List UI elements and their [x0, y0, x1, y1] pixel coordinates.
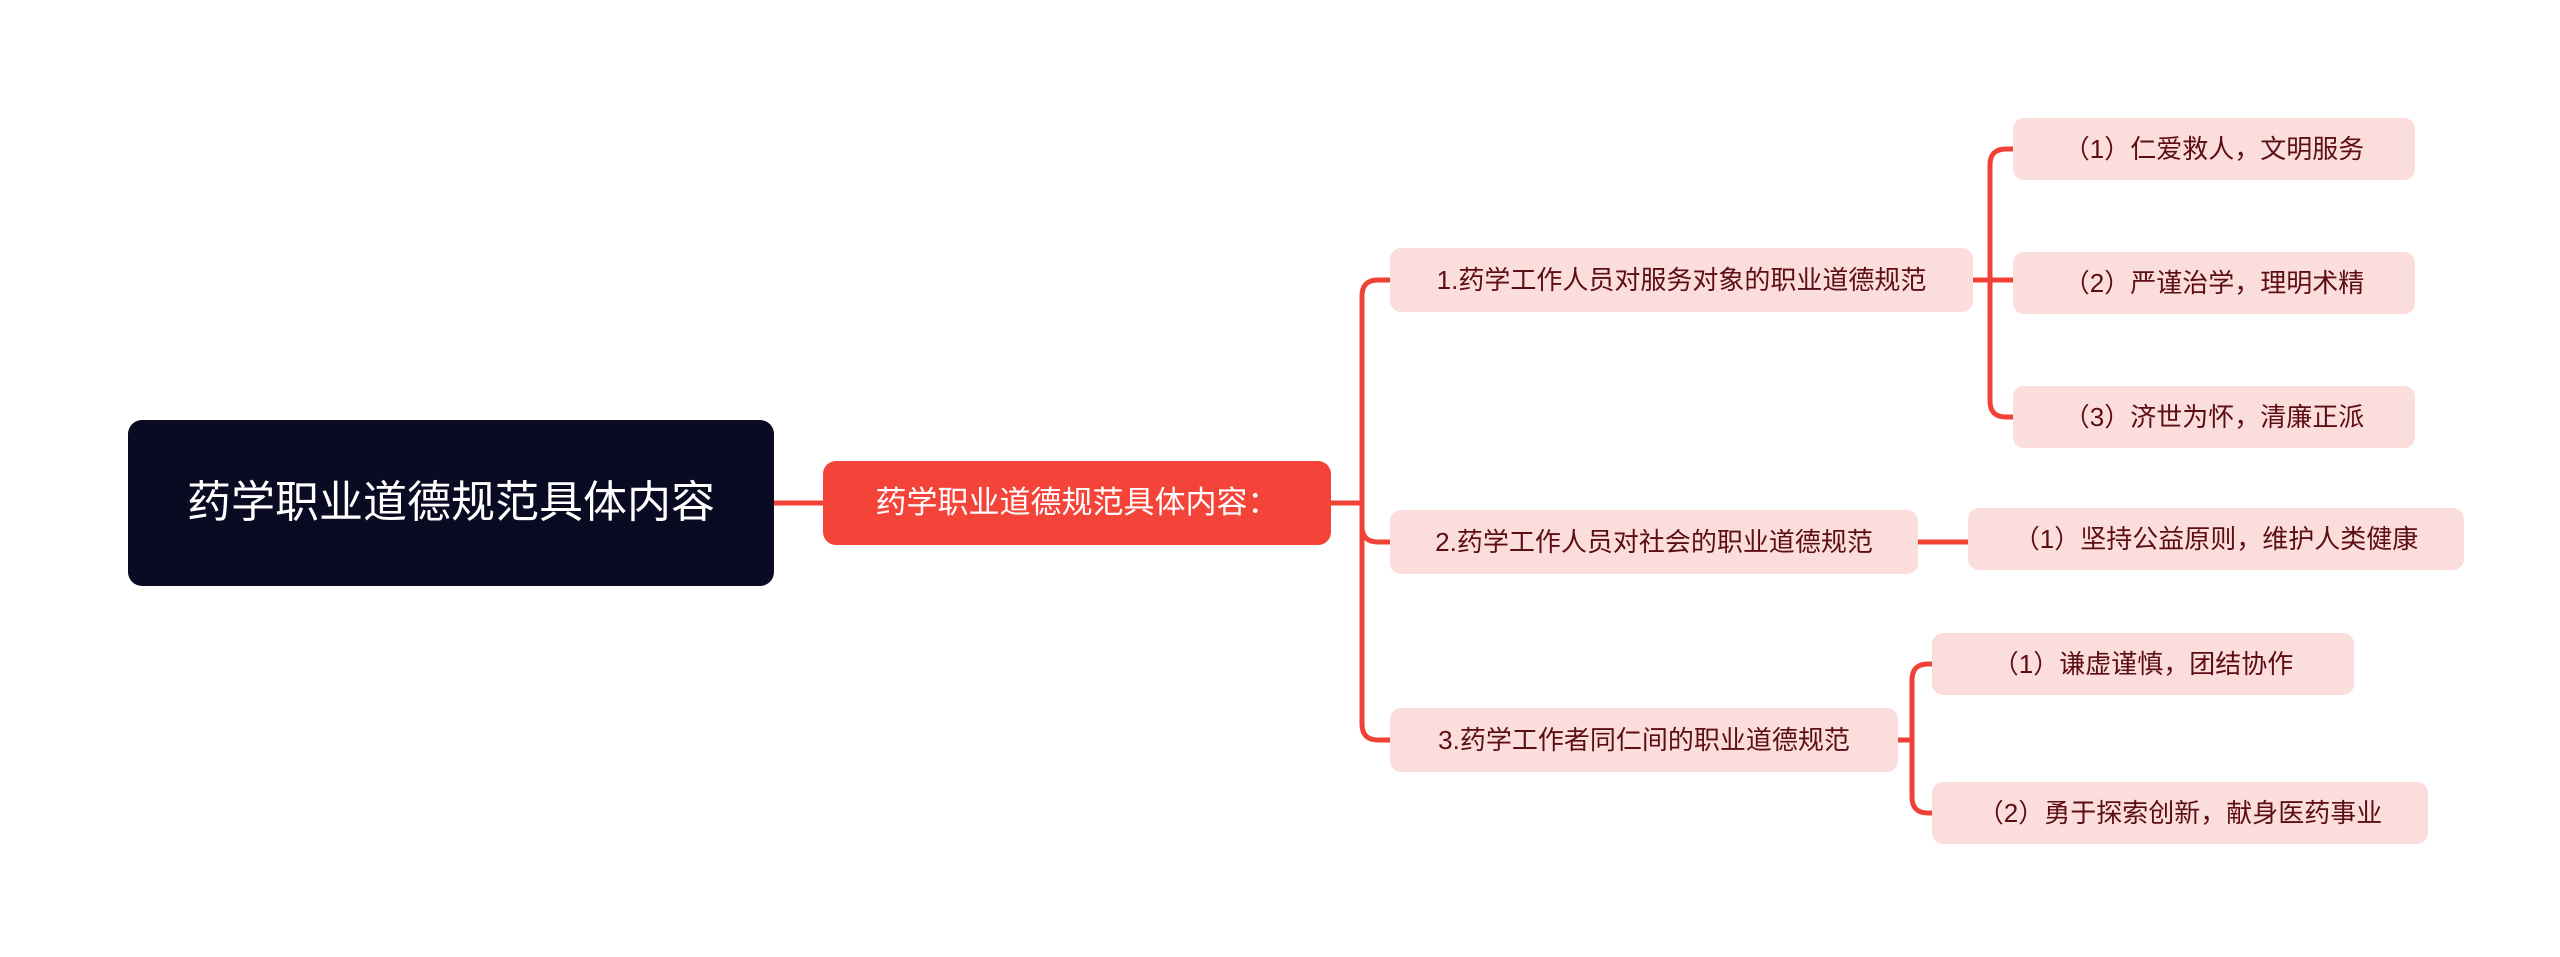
- leaf-node-2-1[interactable]: （1）坚持公益原则，维护人类健康: [1968, 508, 2464, 570]
- branch-node-3-label: 3.药学工作者同仁间的职业道德规范: [1438, 723, 1850, 757]
- leaf-node-3-2-label: （2）勇于探索创新，献身医药事业: [1978, 796, 2382, 830]
- leaf-node-1-3[interactable]: （3）济世为怀，清廉正派: [2013, 386, 2415, 448]
- leaf-node-3-1[interactable]: （1）谦虚谨慎，团结协作: [1932, 633, 2354, 695]
- leaf-node-1-1-label: （1）仁爱救人，文明服务: [2064, 132, 2364, 166]
- branch-node-3[interactable]: 3.药学工作者同仁间的职业道德规范: [1390, 708, 1898, 772]
- root-node-label: 药学职业道德规范具体内容: [187, 474, 715, 532]
- edge-level2-to-branch-3: [1362, 503, 1390, 740]
- branch-node-1[interactable]: 1.药学工作人员对服务对象的职业道德规范: [1390, 248, 1973, 312]
- edge-level2-to-branch-1: [1362, 280, 1390, 503]
- branch-node-2-label: 2.药学工作人员对社会的职业道德规范: [1435, 525, 1873, 559]
- leaf-node-1-2-label: （2）严谨治学，理明术精: [2064, 266, 2364, 300]
- leaf-node-3-2[interactable]: （2）勇于探索创新，献身医药事业: [1932, 782, 2428, 844]
- edge-branch1-to-child-1: [1990, 149, 2013, 280]
- mindmap-canvas: 药学职业道德规范具体内容 药学职业道德规范具体内容： 1.药学工作人员对服务对象…: [0, 0, 2560, 957]
- root-node[interactable]: 药学职业道德规范具体内容: [128, 420, 774, 586]
- edge-branch1-to-child-3: [1990, 280, 2013, 417]
- branch-node-2[interactable]: 2.药学工作人员对社会的职业道德规范: [1390, 510, 1918, 574]
- branch-node-1-label: 1.药学工作人员对服务对象的职业道德规范: [1437, 263, 1927, 297]
- level2-node-label: 药学职业道德规范具体内容：: [876, 483, 1279, 524]
- leaf-node-1-1[interactable]: （1）仁爱救人，文明服务: [2013, 118, 2415, 180]
- leaf-node-2-1-label: （1）坚持公益原则，维护人类健康: [2014, 522, 2418, 556]
- leaf-node-3-1-label: （1）谦虚谨慎，团结协作: [1993, 647, 2293, 681]
- edge-level2-to-branch-2: [1362, 503, 1390, 542]
- level2-node[interactable]: 药学职业道德规范具体内容：: [823, 461, 1331, 545]
- edge-branch3-to-child-1: [1912, 664, 1932, 740]
- edge-branch3-to-child-2: [1912, 740, 1932, 813]
- leaf-node-1-2[interactable]: （2）严谨治学，理明术精: [2013, 252, 2415, 314]
- leaf-node-1-3-label: （3）济世为怀，清廉正派: [2064, 400, 2364, 434]
